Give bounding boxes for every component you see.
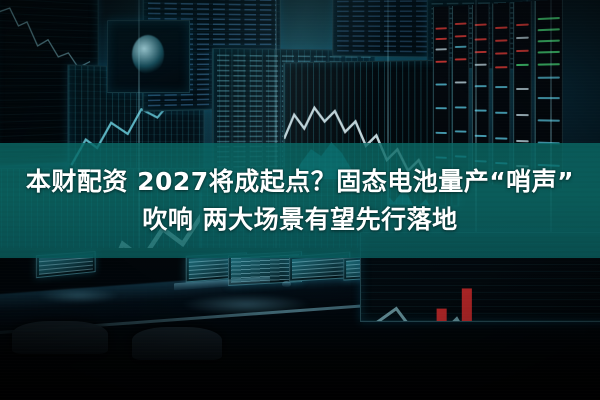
desk-reflection bbox=[180, 294, 312, 315]
chair bbox=[12, 321, 108, 354]
title-line-1: 本财配资 2027将成起点？固态电池量产“哨声” bbox=[26, 164, 574, 200]
title-line-2: 吹响 两大场景有望先行落地 bbox=[142, 202, 457, 238]
desk-reflection bbox=[36, 288, 120, 303]
chair bbox=[132, 327, 222, 360]
caption-overlay: 本财配资 2027将成起点？固态电池量产“哨声” 吹响 两大场景有望先行落地 bbox=[0, 143, 600, 258]
screenshot-stage: 本财配资 2027将成起点？固态电池量产“哨声” 吹响 两大场景有望先行落地 bbox=[0, 0, 600, 400]
